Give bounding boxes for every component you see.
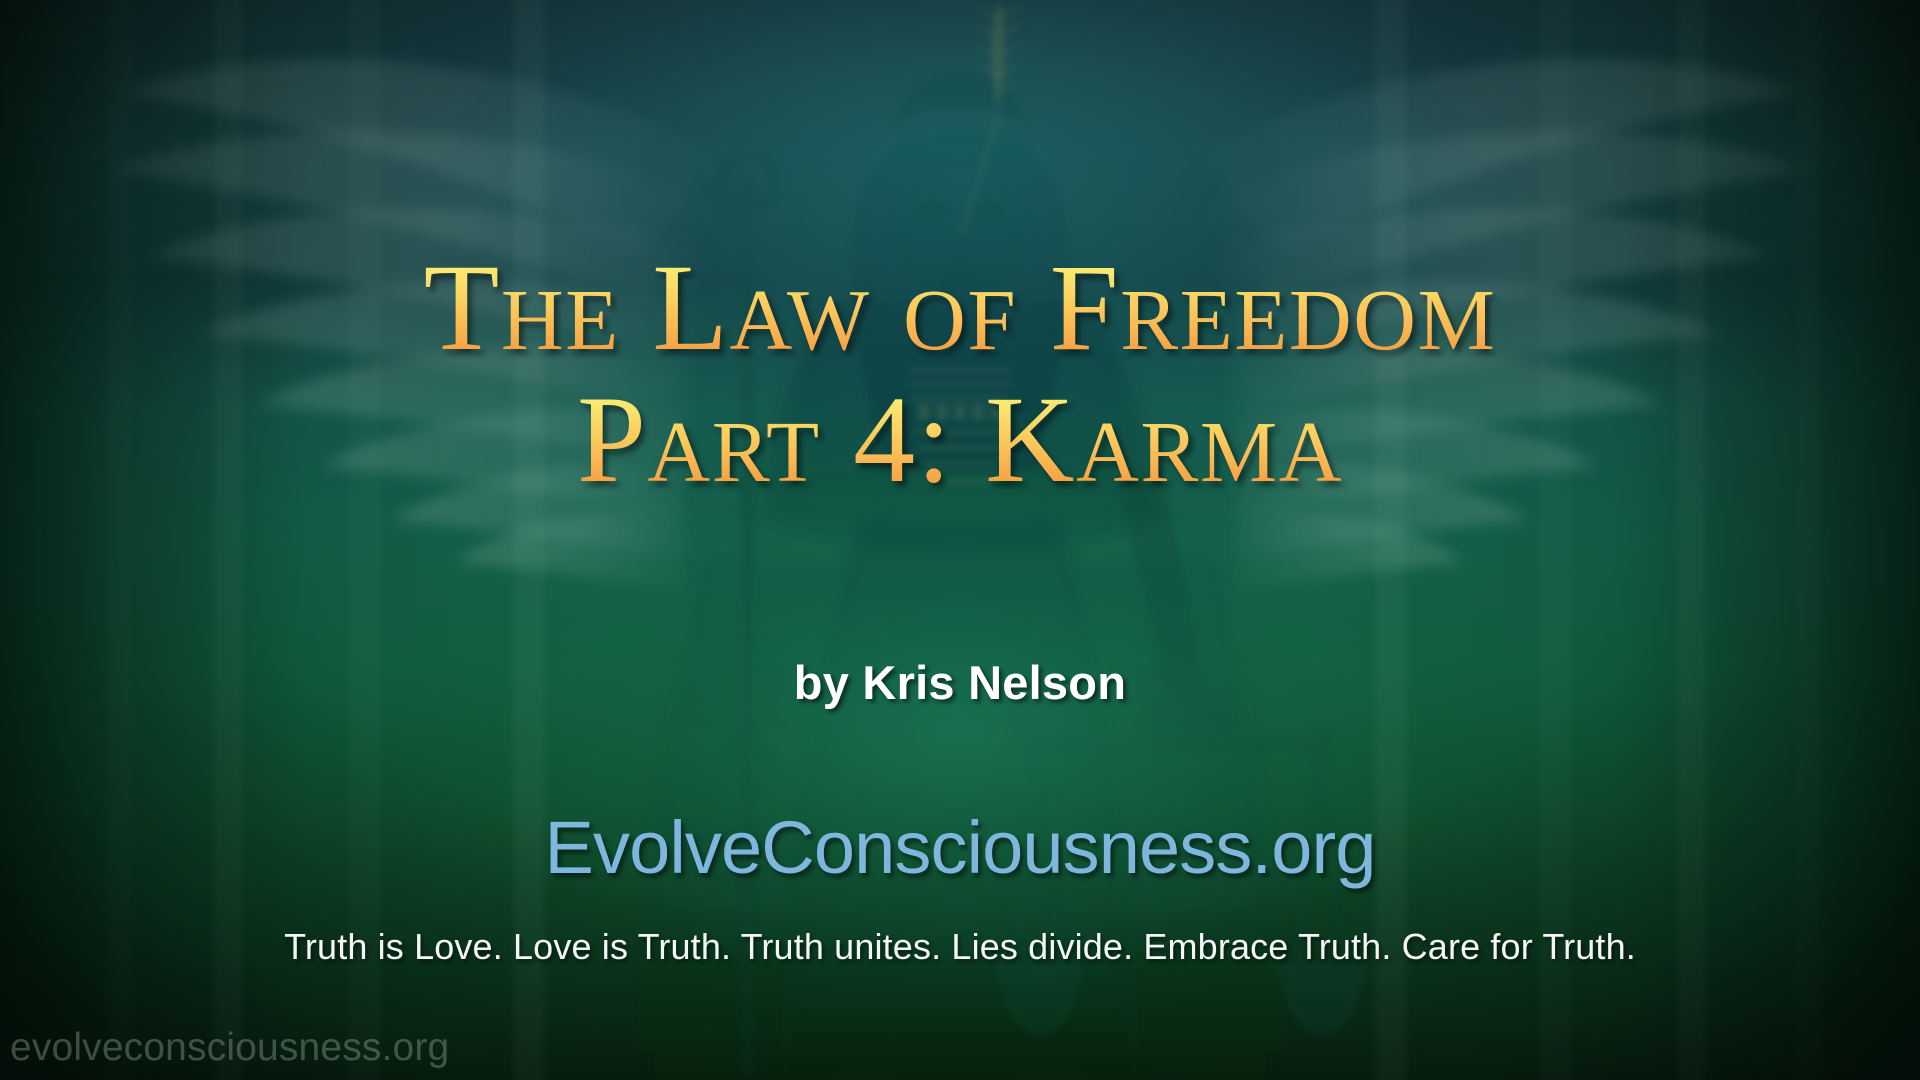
tagline-text: Truth is Love. Love is Truth. Truth unit… bbox=[0, 926, 1920, 968]
slide-content: The Law of Freedom Part 4: Karma by Kris… bbox=[0, 0, 1920, 1080]
page-title: The Law of Freedom Part 4: Karma bbox=[0, 246, 1920, 502]
title-line-subtitle: Part 4: Karma bbox=[0, 378, 1920, 502]
title-line-primary: The Law of Freedom bbox=[0, 246, 1920, 370]
site-url-link[interactable]: EvolveConsciousness.org bbox=[0, 805, 1920, 890]
author-byline: by Kris Nelson bbox=[0, 655, 1920, 710]
watermark-site-url: evolveconsciousness.org bbox=[10, 1026, 449, 1070]
slide-canvas: The Law of Freedom Part 4: Karma by Kris… bbox=[0, 0, 1920, 1080]
